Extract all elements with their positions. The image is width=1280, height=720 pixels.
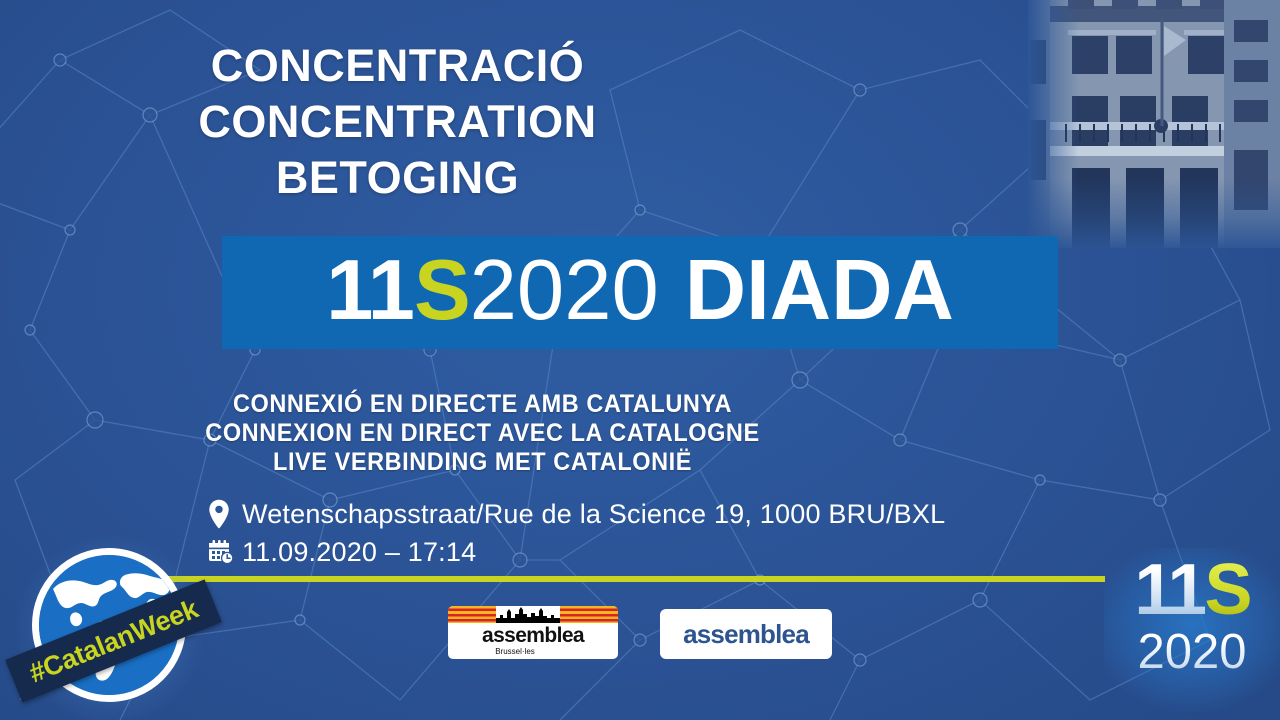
banner-event-name: DIADA bbox=[685, 243, 954, 338]
map-pin-icon bbox=[208, 499, 242, 529]
calendar-clock-icon bbox=[208, 539, 242, 565]
assemblea-brussels-logo: assemblea Brussel·les bbox=[448, 606, 618, 659]
event-details: Wetenschapsstraat/Rue de la Science 19, … bbox=[208, 497, 945, 573]
headline-french: CONCENTRATION bbox=[0, 94, 795, 150]
banner-day: 11 bbox=[326, 243, 414, 338]
headline-catalan: CONCENTRACIÓ bbox=[0, 38, 795, 94]
subheadline-catalan: CONNEXIÓ EN DIRECTE AMB CATALUNYA bbox=[29, 390, 936, 419]
corner-mark-year: 2020 bbox=[1104, 626, 1280, 678]
catalan-week-badge: #CatalanWeek bbox=[22, 542, 198, 718]
city-skyline-icon bbox=[496, 606, 560, 623]
datetime-row: 11.09.2020 – 17:14 bbox=[208, 535, 945, 569]
location-text: Wetenschapsstraat/Rue de la Science 19, … bbox=[242, 499, 945, 530]
subheadline: CONNEXIÓ EN DIRECTE AMB CATALUNYA CONNEX… bbox=[29, 390, 936, 477]
11s-corner-mark: 11S 2020 bbox=[1104, 548, 1280, 720]
corner-mark-month-letter: S bbox=[1205, 550, 1250, 630]
headline-dutch: BETOGING bbox=[0, 150, 795, 206]
banner-month-letter: S bbox=[414, 243, 470, 338]
assemblea-logo: assemblea bbox=[660, 609, 832, 659]
assemblea-name: assemblea bbox=[683, 619, 809, 650]
banner-year: 2020 bbox=[470, 243, 659, 338]
subheadline-french: CONNEXION EN DIRECT AVEC LA CATALOGNE bbox=[29, 419, 936, 448]
corner-mark-day: 11 bbox=[1134, 550, 1204, 630]
assemblea-brussels-name: assemblea bbox=[448, 624, 618, 647]
assemblea-brussels-city: Brussel·les bbox=[448, 647, 618, 656]
corner-mark-day-line: 11S bbox=[1104, 548, 1280, 626]
datetime-text: 11.09.2020 – 17:14 bbox=[242, 537, 476, 568]
page-title: CONCENTRACIÓ CONCENTRATION BETOGING bbox=[0, 38, 795, 206]
subheadline-dutch: LIVE VERBINDING MET CATALONIË bbox=[29, 448, 936, 477]
date-banner: 11S2020DIADA bbox=[222, 236, 1058, 349]
event-poster: CONCENTRACIÓ CONCENTRATION BETOGING 11S2… bbox=[0, 0, 1280, 720]
date-banner-text: 11S2020DIADA bbox=[326, 248, 954, 334]
building-photo bbox=[1028, 0, 1280, 248]
accent-divider bbox=[120, 576, 1105, 582]
photo-edge-fade bbox=[1028, 0, 1280, 248]
location-row: Wetenschapsstraat/Rue de la Science 19, … bbox=[208, 497, 945, 531]
catalan-flag-stripes-icon bbox=[448, 606, 618, 623]
